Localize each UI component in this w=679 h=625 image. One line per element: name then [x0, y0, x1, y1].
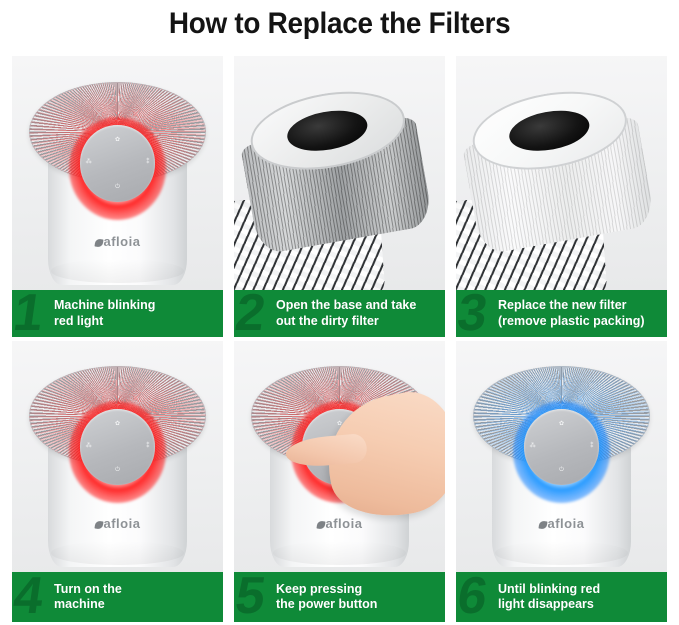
air-purifier-illustration: afloia ✿ ⁂ ⁑ ⏻ [456, 341, 667, 572]
fan-speed-icon: ✿ [524, 421, 600, 427]
air-purifier-illustration: afloia ✿ ⁂ ⁑ ⏻ [234, 341, 445, 572]
filter-carbon-core [284, 105, 371, 157]
timer-icon: ⁑ [590, 443, 593, 449]
step-5-caption: 5 Keep pressing the power button [234, 572, 445, 622]
brand-name: afloia [548, 516, 585, 531]
step-1-caption-text: Machine blinking red light [54, 298, 155, 329]
step-2-caption-line2: out the dirty filter [276, 314, 379, 328]
page-title: How to Replace the Filters [169, 7, 511, 41]
leaf-icon [94, 238, 103, 247]
step-5-image: afloia ✿ ⁂ ⁑ ⏻ [234, 341, 445, 572]
step-2-number: 2 [234, 290, 267, 337]
step-4-caption-line1: Turn on the [54, 582, 122, 596]
step-4-caption-line2: machine [54, 597, 105, 611]
step-3-caption-line2: (remove plastic packing) [498, 314, 645, 328]
brand-logo: afloia [492, 516, 631, 531]
step-4-caption-text: Turn on the machine [54, 582, 122, 613]
brand-logo: afloia [48, 516, 187, 531]
brand-logo: afloia [48, 234, 187, 249]
control-panel: ✿ ⁂ ⁑ ⏻ [80, 409, 156, 485]
power-icon: ⏻ [80, 467, 156, 473]
step-5-number: 5 [234, 572, 267, 622]
clean-filter-illustration [456, 56, 667, 290]
step-1-caption-line2: red light [54, 314, 103, 328]
leaf-icon [316, 521, 325, 530]
timer-icon: ⁑ [146, 159, 149, 165]
step-3-caption-text: Replace the new filter (remove plastic p… [498, 298, 645, 329]
filter-carbon-core [506, 105, 593, 157]
infographic-root: How to Replace the Filters afloia ✿ ⁂ ⁑ [0, 0, 679, 625]
step-2-caption: 2 Open the base and take out the dirty f… [234, 290, 445, 337]
step-3-caption-line1: Replace the new filter [498, 298, 627, 312]
ionizer-icon: ⁂ [86, 443, 92, 449]
step-panel-2: 2 Open the base and take out the dirty f… [234, 56, 445, 337]
brand-name: afloia [326, 516, 363, 531]
step-1-caption: 1 Machine blinking red light [12, 290, 223, 337]
brand-logo: afloia [270, 516, 409, 531]
step-6-caption-line1: Until blinking red [498, 582, 600, 596]
page-title-container: How to Replace the Filters [0, 0, 679, 48]
step-6-caption-line2: light disappears [498, 597, 594, 611]
control-panel: ✿ ⁂ ⁑ ⏻ [80, 125, 156, 202]
power-icon: ⏻ [80, 184, 156, 190]
dirty-filter-illustration [234, 56, 445, 290]
air-purifier-illustration: afloia ✿ ⁂ ⁑ ⏻ [12, 56, 223, 290]
step-1-number: 1 [12, 290, 45, 337]
step-6-caption-text: Until blinking red light disappears [498, 582, 600, 613]
ionizer-icon: ⁂ [86, 159, 92, 165]
step-4-caption: 4 Turn on the machine [12, 572, 223, 622]
step-2-caption-text: Open the base and take out the dirty fil… [276, 298, 416, 329]
step-2-caption-line1: Open the base and take [276, 298, 416, 312]
step-6-number: 6 [456, 572, 489, 622]
timer-icon: ⁑ [146, 443, 149, 449]
step-2-image [234, 56, 445, 290]
step-1-caption-line1: Machine blinking [54, 298, 155, 312]
step-panel-6: afloia ✿ ⁂ ⁑ ⏻ 6 Until blinking red [456, 341, 667, 622]
leaf-icon [538, 521, 547, 530]
step-6-caption: 6 Until blinking red light disappears [456, 572, 667, 622]
step-panel-1: afloia ✿ ⁂ ⁑ ⏻ 1 Machine blinking [12, 56, 223, 337]
power-icon: ⏻ [524, 467, 600, 473]
control-panel: ✿ ⁂ ⁑ ⏻ [524, 409, 600, 485]
step-5-caption-line2: the power button [276, 597, 377, 611]
step-5-caption-text: Keep pressing the power button [276, 582, 377, 613]
brand-name: afloia [104, 516, 141, 531]
filter-cartridge-dirty [234, 79, 437, 276]
filter-cartridge-clean [456, 79, 659, 276]
step-3-number: 3 [456, 290, 489, 337]
step-3-caption: 3 Replace the new filter (remove plastic… [456, 290, 667, 337]
step-panel-3: 3 Replace the new filter (remove plastic… [456, 56, 667, 337]
step-5-caption-line1: Keep pressing [276, 582, 362, 596]
step-1-image: afloia ✿ ⁂ ⁑ ⏻ [12, 56, 223, 290]
step-4-number: 4 [12, 572, 45, 622]
step-panel-5: afloia ✿ ⁂ ⁑ ⏻ 5 [234, 341, 445, 622]
steps-grid: afloia ✿ ⁂ ⁑ ⏻ 1 Machine blinking [12, 56, 667, 622]
air-purifier-illustration: afloia ✿ ⁂ ⁑ ⏻ [12, 341, 223, 572]
leaf-icon [94, 521, 103, 530]
step-panel-4: afloia ✿ ⁂ ⁑ ⏻ 4 Turn on the [12, 341, 223, 622]
fan-speed-icon: ✿ [80, 137, 156, 143]
fan-speed-icon: ✿ [80, 421, 156, 427]
ionizer-icon: ⁂ [530, 443, 536, 449]
step-4-image: afloia ✿ ⁂ ⁑ ⏻ [12, 341, 223, 572]
brand-name: afloia [104, 234, 141, 249]
step-6-image: afloia ✿ ⁂ ⁑ ⏻ [456, 341, 667, 572]
step-3-image [456, 56, 667, 290]
